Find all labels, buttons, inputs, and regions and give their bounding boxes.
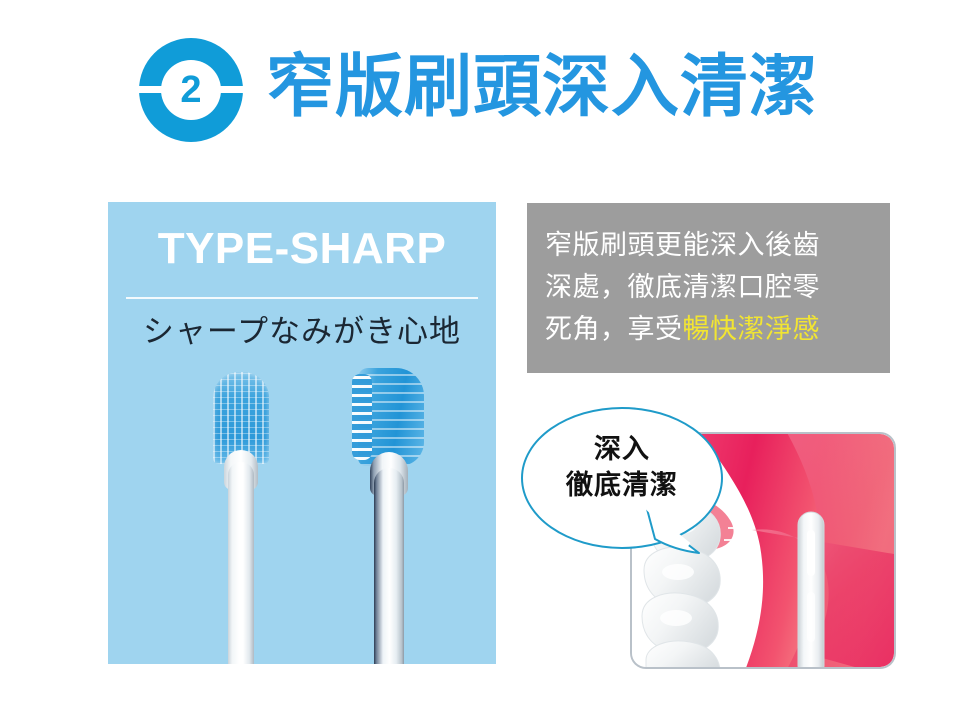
description-text: 窄版刷頭更能深入後齒 深處，徹底清潔口腔零 死角，享受暢快潔淨感 — [545, 225, 872, 351]
brush-handle — [798, 512, 824, 667]
slide-root: 2 窄版刷頭深入清潔 TYPE-SHARP シャープなみがき心地 窄版刷頭更能深… — [0, 0, 960, 721]
description-line-2: 深處，徹底清潔口腔零 — [545, 267, 872, 309]
toothbrush-side-view-image — [346, 368, 432, 664]
title-divider — [126, 297, 478, 299]
toothbrush-front-view-image — [206, 372, 276, 664]
product-type-subtitle: シャープなみがき心地 — [108, 310, 496, 353]
description-highlight: 暢快潔淨感 — [683, 314, 821, 344]
step-number-label: 2 — [161, 60, 221, 120]
header: 2 窄版刷頭深入清潔 — [0, 0, 960, 175]
page-title: 窄版刷頭深入清潔 — [266, 38, 818, 137]
description-line-3-plain: 死角，享受 — [545, 314, 683, 344]
bubble-line-1: 深入 — [521, 431, 723, 467]
description-line-3: 死角，享受暢快潔淨感 — [545, 309, 872, 351]
product-type-title: TYPE-SHARP — [108, 220, 496, 277]
description-line-1: 窄版刷頭更能深入後齒 — [545, 225, 872, 267]
description-box: 窄版刷頭更能深入後齒 深處，徹底清潔口腔零 死角，享受暢快潔淨感 — [527, 203, 890, 373]
step-number-ring-icon: 2 — [139, 38, 243, 142]
bubble-text: 深入 徹底清潔 — [521, 431, 723, 504]
product-image-panel: TYPE-SHARP シャープなみがき心地 — [108, 202, 496, 664]
brush-handle-front — [228, 462, 254, 664]
callout-speech-bubble: 深入 徹底清潔 — [521, 407, 723, 549]
bubble-tail — [643, 503, 705, 557]
brush-handle-side — [374, 468, 404, 664]
bubble-line-2: 徹底清潔 — [521, 467, 723, 503]
